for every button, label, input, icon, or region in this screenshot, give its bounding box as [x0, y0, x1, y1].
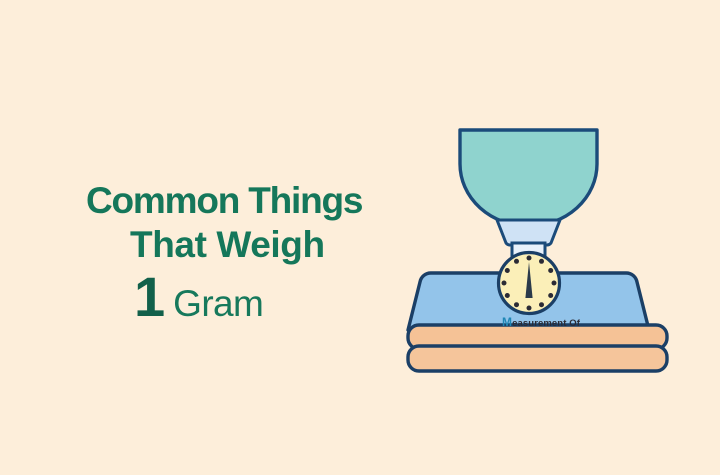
amount-number: 1: [134, 273, 164, 321]
headline-block: Common Things That Weigh 1 Gram: [86, 182, 406, 325]
scale-bowl: [460, 130, 597, 226]
weighing-scale-illustration: [396, 112, 686, 377]
scale-base-band-lower: [408, 346, 667, 371]
poster-canvas: Common Things That Weigh 1 Gram: [0, 0, 720, 475]
headline-line-1: Common Things: [86, 182, 406, 219]
headline-amount-row: 1 Gram: [134, 273, 406, 325]
amount-unit: Gram: [173, 283, 263, 325]
scale-bowl-collar: [497, 220, 560, 245]
headline-line-2: That Weigh: [130, 226, 406, 263]
